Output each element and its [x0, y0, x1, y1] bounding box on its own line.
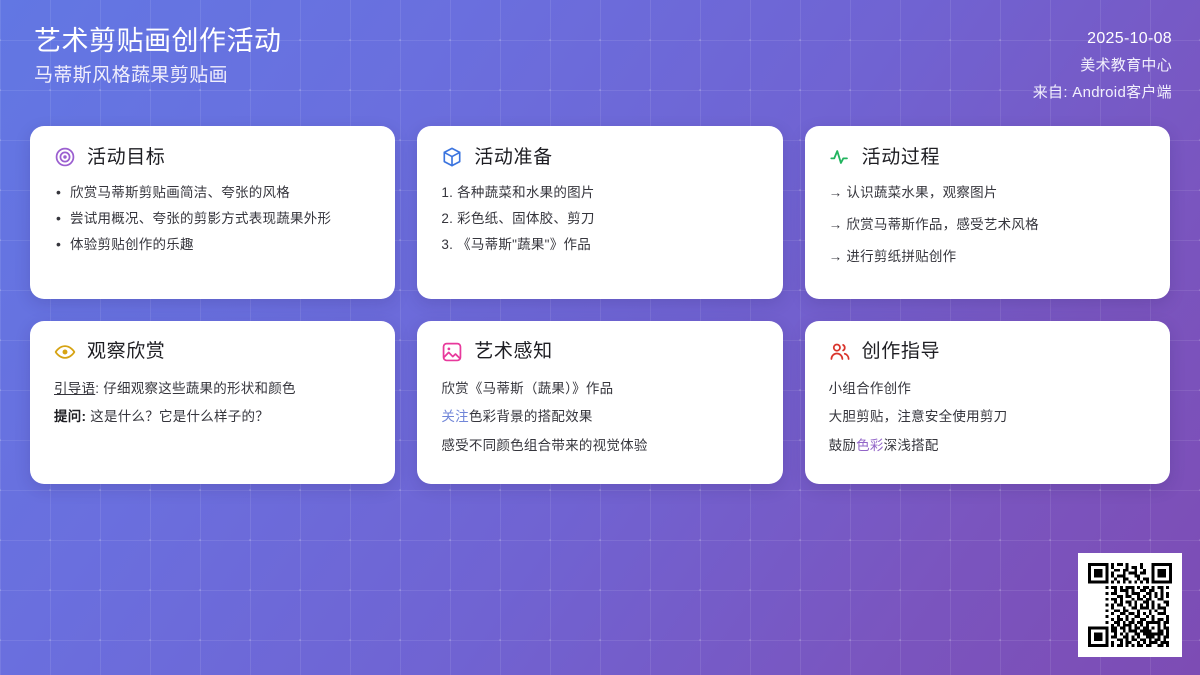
card-header: 创作指导 [829, 341, 1148, 363]
header-source: 来自: Android客户端 [1033, 81, 1172, 102]
qr-code[interactable] [1078, 553, 1182, 657]
bullet-list: 欣赏马蒂斯剪贴画简洁、夸张的风格 尝试用概况、夸张的剪影方式表现蔬果外形 体验剪… [54, 183, 373, 261]
text-line: 引导语: 仔细观察这些蔬果的形状和颜色 [54, 378, 373, 400]
card-header: 活动目标 [54, 146, 373, 168]
list-item: 认识蔬菜水果，观察图片 [829, 183, 1148, 204]
text-line: 关注色彩背景的搭配效果 [441, 406, 760, 428]
numbered-list: 各种蔬菜和水果的图片 彩色纸、固体胶、剪刀 《马蒂斯"蔬果"》作品 [441, 183, 760, 261]
line-highlight: 色彩 [856, 438, 884, 453]
card-observe-appreciate[interactable]: 观察欣赏 引导语: 仔细观察这些蔬果的形状和颜色 提问: 这是什么？它是什么样子… [30, 321, 395, 484]
list-item: 体验剪贴创作的乐趣 [54, 235, 373, 256]
card-art-perception[interactable]: 艺术感知 欣赏《马蒂斯（蔬果）》作品 关注色彩背景的搭配效果 感受不同颜色组合带… [417, 321, 782, 484]
target-icon [54, 146, 76, 168]
page-subtitle: 马蒂斯风格蔬果剪贴画 [34, 65, 282, 87]
card-title: 活动目标 [87, 148, 165, 167]
line-text: 色彩背景的搭配效果 [469, 409, 593, 424]
line-separator: : [82, 409, 91, 424]
page-title: 艺术剪贴画创作活动 [34, 26, 282, 56]
header-meta-block: 2025-10-08 美术教育中心 来自: Android客户端 [1033, 26, 1172, 102]
arrow-list: 认识蔬菜水果，观察图片 欣赏马蒂斯作品，感受艺术风格 进行剪纸拼贴创作 [829, 183, 1148, 279]
text-line: 感受不同颜色组合带来的视觉体验 [441, 435, 760, 457]
line-text: 这是什么？它是什么样子的？ [90, 409, 269, 424]
line-highlight: 关注 [441, 409, 469, 424]
text-line: 小组合作创作 [829, 378, 1148, 400]
qr-code-image [1088, 563, 1172, 647]
slide-page: 艺术剪贴画创作活动 马蒂斯风格蔬果剪贴画 2025-10-08 美术教育中心 来… [0, 0, 1200, 675]
card-header: 活动准备 [441, 146, 760, 168]
card-title: 活动过程 [862, 148, 940, 167]
text-line: 鼓励色彩深浅搭配 [829, 435, 1148, 457]
card-header: 观察欣赏 [54, 341, 373, 363]
card-header: 活动过程 [829, 146, 1148, 168]
list-item: 欣赏马蒂斯作品，感受艺术风格 [829, 215, 1148, 236]
card-title: 观察欣赏 [87, 342, 165, 361]
package-box-icon [441, 146, 463, 168]
card-title: 活动准备 [474, 148, 552, 167]
card-title: 创作指导 [862, 342, 940, 361]
card-activity-process[interactable]: 活动过程 认识蔬菜水果，观察图片 欣赏马蒂斯作品，感受艺术风格 进行剪纸拼贴创作 [805, 126, 1170, 299]
card-header: 艺术感知 [441, 341, 760, 363]
line-prefix: 鼓励 [829, 438, 857, 453]
list-item: 彩色纸、固体胶、剪刀 [441, 209, 760, 230]
activity-pulse-icon [829, 146, 851, 168]
line-text: 深浅搭配 [884, 438, 939, 453]
image-picture-icon [441, 341, 463, 363]
eye-icon [54, 341, 76, 363]
line-label: 引导语 [54, 381, 95, 396]
card-body: 欣赏《马蒂斯（蔬果）》作品 关注色彩背景的搭配效果 感受不同颜色组合带来的视觉体… [441, 378, 760, 464]
line-text: 仔细观察这些蔬果的形状和颜色 [103, 381, 296, 396]
page-header: 艺术剪贴画创作活动 马蒂斯风格蔬果剪贴画 2025-10-08 美术教育中心 来… [0, 0, 1200, 126]
header-organization: 美术教育中心 [1080, 54, 1172, 75]
text-line: 欣赏《马蒂斯（蔬果）》作品 [441, 378, 760, 400]
card-body: 各种蔬菜和水果的图片 彩色纸、固体胶、剪刀 《马蒂斯"蔬果"》作品 [441, 183, 760, 261]
header-date: 2025-10-08 [1087, 30, 1172, 48]
list-item: 尝试用概况、夸张的剪影方式表现蔬果外形 [54, 209, 373, 230]
card-body: 小组合作创作 大胆剪贴，注意安全使用剪刀 鼓励色彩深浅搭配 [829, 378, 1148, 464]
line-label: 提问 [54, 409, 82, 424]
text-line: 大胆剪贴，注意安全使用剪刀 [829, 406, 1148, 428]
card-body: 认识蔬菜水果，观察图片 欣赏马蒂斯作品，感受艺术风格 进行剪纸拼贴创作 [829, 183, 1148, 279]
card-body: 引导语: 仔细观察这些蔬果的形状和颜色 提问: 这是什么？它是什么样子的？ [54, 378, 373, 435]
users-group-icon [829, 341, 851, 363]
card-body: 欣赏马蒂斯剪贴画简洁、夸张的风格 尝试用概况、夸张的剪影方式表现蔬果外形 体验剪… [54, 183, 373, 261]
card-grid: 活动目标 欣赏马蒂斯剪贴画简洁、夸张的风格 尝试用概况、夸张的剪影方式表现蔬果外… [0, 126, 1200, 484]
card-title: 艺术感知 [474, 342, 552, 361]
list-item: 各种蔬菜和水果的图片 [441, 183, 760, 204]
text-line: 提问: 这是什么？它是什么样子的？ [54, 406, 373, 428]
list-item: 欣赏马蒂斯剪贴画简洁、夸张的风格 [54, 183, 373, 204]
card-activity-preparation[interactable]: 活动准备 各种蔬菜和水果的图片 彩色纸、固体胶、剪刀 《马蒂斯"蔬果"》作品 [417, 126, 782, 299]
list-item: 《马蒂斯"蔬果"》作品 [441, 235, 760, 256]
list-item: 进行剪纸拼贴创作 [829, 247, 1148, 268]
card-activity-goal[interactable]: 活动目标 欣赏马蒂斯剪贴画简洁、夸张的风格 尝试用概况、夸张的剪影方式表现蔬果外… [30, 126, 395, 299]
header-title-block: 艺术剪贴画创作活动 马蒂斯风格蔬果剪贴画 [34, 26, 282, 87]
card-creation-guidance[interactable]: 创作指导 小组合作创作 大胆剪贴，注意安全使用剪刀 鼓励色彩深浅搭配 [805, 321, 1170, 484]
